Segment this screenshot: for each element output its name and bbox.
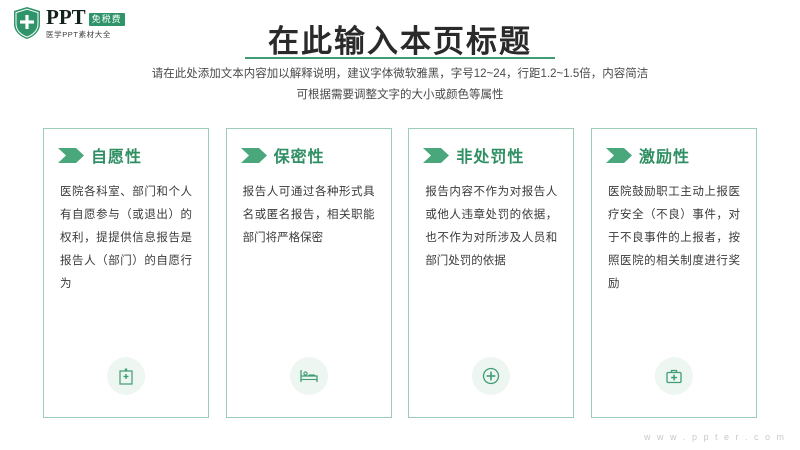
card-header: 激励性 [592, 129, 756, 167]
subtitle-line-1: 请在此处添加文本内容加以解释说明，建议字体微软雅黑，字号12~24，行距1.2~… [0, 64, 800, 85]
card-body: 报告内容不作为对报告人或他人违章处罚的依据，也不作为对所涉及人员和部门处罚的依据 [409, 167, 573, 273]
arrow-right-icon [241, 148, 267, 163]
arrow-right-icon [423, 148, 449, 163]
page-subtitle: 请在此处添加文本内容加以解释说明，建议字体微软雅黑，字号12~24，行距1.2~… [0, 64, 800, 107]
card-body: 医院鼓励职工主动上报医疗安全（不良）事件，对于不良事件的上报者，按照医院的相关制… [592, 167, 756, 296]
card-body: 医院各科室、部门和个人有自愿参与（或退出）的权利，提提供信息报告是报告人（部门）… [44, 167, 208, 296]
arrow-right-icon [58, 148, 84, 163]
subtitle-line-2: 可根据需要调整文字的大小或颜色等属性 [0, 85, 800, 106]
watermark: w w w . p p t e r . c o m [644, 432, 786, 442]
hospital-bed-icon [290, 357, 328, 395]
card-item[interactable]: 激励性 医院鼓励职工主动上报医疗安全（不良）事件，对于不良事件的上报者，按照医院… [591, 128, 757, 418]
hospital-building-icon [107, 357, 145, 395]
card-item[interactable]: 保密性 报告人可通过各种形式具名或匿名报告，相关职能部门将严格保密 [226, 128, 392, 418]
page-title: 在此输入本页标题 [0, 16, 800, 61]
card-body: 报告人可通过各种形式具名或匿名报告，相关职能部门将严格保密 [227, 167, 391, 250]
first-aid-kit-icon [655, 357, 693, 395]
card-item[interactable]: 自愿性 医院各科室、部门和个人有自愿参与（或退出）的权利，提提供信息报告是报告人… [43, 128, 209, 418]
card-header: 非处罚性 [409, 129, 573, 167]
card-header: 保密性 [227, 129, 391, 167]
card-title: 保密性 [274, 143, 325, 167]
card-title: 激励性 [639, 143, 690, 167]
medical-cross-circle-icon [472, 357, 510, 395]
card-item[interactable]: 非处罚性 报告内容不作为对报告人或他人违章处罚的依据，也不作为对所涉及人员和部门… [408, 128, 574, 418]
card-title: 自愿性 [91, 143, 142, 167]
card-title: 非处罚性 [456, 143, 524, 167]
card-header: 自愿性 [44, 129, 208, 167]
title-underline [245, 57, 555, 59]
card-list: 自愿性 医院各科室、部门和个人有自愿参与（或退出）的权利，提提供信息报告是报告人… [43, 128, 757, 418]
arrow-right-icon [606, 148, 632, 163]
